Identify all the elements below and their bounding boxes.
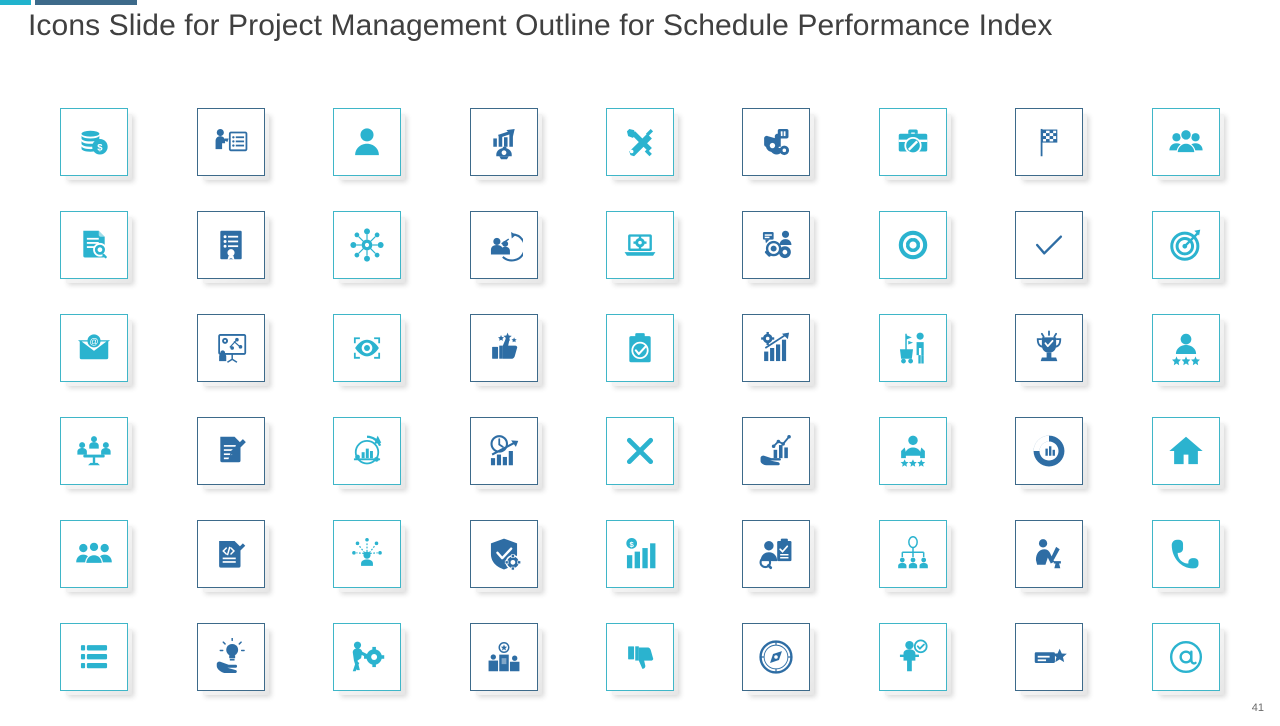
cross-close-x-icon bbox=[621, 432, 659, 470]
banner-ribbon-star-icon-tile[interactable] bbox=[1015, 623, 1083, 691]
icon-grid: $@$ bbox=[26, 108, 1254, 726]
dollar-bar-chart-icon-tile[interactable]: $ bbox=[606, 520, 674, 588]
icon-cell[interactable] bbox=[606, 623, 674, 691]
trophy-award-check-icon-tile[interactable] bbox=[1015, 314, 1083, 382]
person-pushing-gear-icon bbox=[348, 638, 386, 676]
icon-cell[interactable] bbox=[606, 211, 674, 279]
icon-cell[interactable] bbox=[333, 417, 401, 485]
icon-cell[interactable] bbox=[1152, 211, 1220, 279]
presenter-checklist-icon bbox=[212, 123, 250, 161]
clock-growth-chart-icon bbox=[485, 432, 523, 470]
person-stars-rating-icon-tile[interactable] bbox=[879, 417, 947, 485]
home-house-icon-tile[interactable] bbox=[1152, 417, 1220, 485]
team-meeting-table-icon-tile[interactable] bbox=[60, 417, 128, 485]
laptop-gear-settings-icon bbox=[621, 226, 659, 264]
network-nodes-gear-icon bbox=[348, 226, 386, 264]
icon-cell[interactable] bbox=[470, 623, 538, 691]
icon-cell[interactable] bbox=[60, 623, 128, 691]
people-group-three-icon bbox=[75, 535, 113, 573]
growth-chart-gear-icon-tile[interactable] bbox=[470, 108, 538, 176]
clock-growth-chart-icon-tile[interactable] bbox=[470, 417, 538, 485]
donut-pie-chart-icon-tile[interactable] bbox=[1015, 417, 1083, 485]
email-envelope-at-icon: @ bbox=[75, 329, 113, 367]
network-nodes-gear-icon-tile[interactable] bbox=[333, 211, 401, 279]
money-coins-dollar-icon: $ bbox=[75, 123, 113, 161]
shield-check-gear-icon bbox=[485, 535, 523, 573]
person-clipboard-search-icon-tile[interactable] bbox=[742, 520, 810, 588]
document-magnifier-review-icon bbox=[75, 226, 113, 264]
person-checkmark-approved-icon bbox=[894, 638, 932, 676]
target-dartboard-arrow-icon-tile[interactable] bbox=[1152, 211, 1220, 279]
dollar-bar-chart-icon: $ bbox=[621, 535, 659, 573]
network-hub-connection-icon bbox=[348, 535, 386, 573]
icon-cell[interactable] bbox=[742, 623, 810, 691]
compass-navigation-icon-tile[interactable] bbox=[742, 623, 810, 691]
icon-cell[interactable] bbox=[333, 211, 401, 279]
icon-cell[interactable] bbox=[742, 417, 810, 485]
shield-check-gear-icon-tile[interactable] bbox=[470, 520, 538, 588]
podium-winner-star-icon bbox=[485, 638, 523, 676]
accent-bar-blue bbox=[35, 0, 137, 5]
icon-cell[interactable] bbox=[1015, 520, 1083, 588]
thumbs-up-stars-rating-icon bbox=[485, 329, 523, 367]
single-user-avatar-icon bbox=[348, 123, 386, 161]
certificate-document-list-icon bbox=[212, 226, 250, 264]
icon-cell[interactable] bbox=[470, 417, 538, 485]
home-house-icon bbox=[1167, 432, 1205, 470]
person-cart-delivery-icon bbox=[894, 329, 932, 367]
tools-wrench-screwdriver-icon bbox=[621, 123, 659, 161]
bar-chart-gear-growth-icon bbox=[757, 329, 795, 367]
certificate-document-list-icon-tile[interactable] bbox=[197, 211, 265, 279]
compass-navigation-icon bbox=[757, 638, 795, 676]
icon-cell[interactable] bbox=[197, 623, 265, 691]
team-group-people-icon-tile[interactable] bbox=[1152, 108, 1220, 176]
money-coins-dollar-icon-tile[interactable]: $ bbox=[60, 108, 128, 176]
thumbs-down-dislike-icon-tile[interactable] bbox=[606, 623, 674, 691]
icon-cell[interactable] bbox=[1015, 623, 1083, 691]
phone-handset-call-icon-tile[interactable] bbox=[1152, 520, 1220, 588]
person-pushing-gear-icon-tile[interactable] bbox=[333, 623, 401, 691]
tools-wrench-screwdriver-icon-tile[interactable] bbox=[606, 108, 674, 176]
organization-hierarchy-chart-icon-tile[interactable] bbox=[879, 520, 947, 588]
hand-chart-growth-icon-tile[interactable] bbox=[742, 417, 810, 485]
user-search-analytics-icon bbox=[757, 226, 795, 264]
icon-cell[interactable] bbox=[1015, 417, 1083, 485]
icon-cell[interactable] bbox=[742, 211, 810, 279]
person-three-stars-rating-icon-tile[interactable] bbox=[1152, 314, 1220, 382]
cross-close-x-icon-tile[interactable] bbox=[606, 417, 674, 485]
icon-cell[interactable] bbox=[333, 623, 401, 691]
circular-gear-dial-icon-tile[interactable] bbox=[879, 211, 947, 279]
checkered-finish-flag-icon-tile[interactable] bbox=[1015, 108, 1083, 176]
code-document-pen-icon bbox=[212, 535, 250, 573]
accent-bar-teal bbox=[0, 0, 31, 5]
icon-cell[interactable] bbox=[879, 623, 947, 691]
podium-winner-star-icon-tile[interactable] bbox=[470, 623, 538, 691]
icon-cell[interactable] bbox=[60, 211, 128, 279]
icon-cell[interactable] bbox=[470, 211, 538, 279]
team-target-progress-icon-tile[interactable] bbox=[470, 211, 538, 279]
thumbs-up-stars-rating-icon-tile[interactable] bbox=[470, 314, 538, 382]
hand-gear-settings-icon bbox=[757, 123, 795, 161]
icon-cell[interactable] bbox=[606, 417, 674, 485]
person-stars-rating-icon bbox=[894, 432, 932, 470]
circular-gear-dial-icon bbox=[894, 226, 932, 264]
icon-cell[interactable] bbox=[879, 520, 947, 588]
svg-text:$: $ bbox=[630, 540, 635, 549]
page-title: Icons Slide for Project Management Outli… bbox=[28, 6, 1128, 46]
target-dartboard-arrow-icon bbox=[1167, 226, 1205, 264]
hand-lightbulb-idea-icon-tile[interactable] bbox=[197, 623, 265, 691]
checkmark-tick-icon-tile[interactable] bbox=[1015, 211, 1083, 279]
document-magnifier-review-icon-tile[interactable] bbox=[60, 211, 128, 279]
icon-cell[interactable] bbox=[470, 314, 538, 382]
icon-cell[interactable] bbox=[197, 314, 265, 382]
icon-cell[interactable]: @ bbox=[60, 314, 128, 382]
eye-vision-focus-icon bbox=[348, 329, 386, 367]
email-envelope-at-icon-tile[interactable]: @ bbox=[60, 314, 128, 382]
icon-cell[interactable] bbox=[470, 108, 538, 176]
icon-cell[interactable] bbox=[197, 108, 265, 176]
icon-cell[interactable]: $ bbox=[60, 108, 128, 176]
presenter-checklist-icon-tile[interactable] bbox=[197, 108, 265, 176]
briefcase-blocked-icon-tile[interactable] bbox=[879, 108, 947, 176]
code-document-pen-icon-tile[interactable] bbox=[197, 520, 265, 588]
icon-cell[interactable] bbox=[197, 211, 265, 279]
page-number: 41 bbox=[1252, 702, 1264, 714]
icon-cell[interactable]: $ bbox=[606, 520, 674, 588]
banner-ribbon-star-icon bbox=[1030, 638, 1068, 676]
eye-vision-focus-icon-tile[interactable] bbox=[333, 314, 401, 382]
at-sign-email-icon bbox=[1167, 638, 1205, 676]
hand-gear-settings-icon-tile[interactable] bbox=[742, 108, 810, 176]
icon-cell[interactable] bbox=[1152, 417, 1220, 485]
icon-cell[interactable] bbox=[879, 314, 947, 382]
icon-cell[interactable] bbox=[879, 108, 947, 176]
icon-cell[interactable] bbox=[1015, 108, 1083, 176]
icon-cell[interactable] bbox=[879, 211, 947, 279]
icon-cell[interactable] bbox=[60, 520, 128, 588]
presentation-board-strategy-icon-tile[interactable] bbox=[197, 314, 265, 382]
icon-cell[interactable] bbox=[879, 417, 947, 485]
team-meeting-table-icon bbox=[75, 432, 113, 470]
icon-cell[interactable] bbox=[60, 417, 128, 485]
hand-chart-growth-icon bbox=[757, 432, 795, 470]
accent-bars bbox=[0, 0, 137, 5]
icon-cell[interactable] bbox=[1015, 211, 1083, 279]
svg-text:@: @ bbox=[90, 336, 99, 346]
at-sign-email-icon-tile[interactable] bbox=[1152, 623, 1220, 691]
icon-cell[interactable] bbox=[470, 520, 538, 588]
donut-pie-chart-icon bbox=[1030, 432, 1068, 470]
laptop-gear-settings-icon-tile[interactable] bbox=[606, 211, 674, 279]
person-working-desk-icon-tile[interactable] bbox=[1015, 520, 1083, 588]
icon-cell[interactable] bbox=[333, 108, 401, 176]
icon-cell[interactable] bbox=[742, 314, 810, 382]
people-group-three-icon-tile[interactable] bbox=[60, 520, 128, 588]
document-pen-signature-icon bbox=[212, 432, 250, 470]
hand-lightbulb-idea-icon bbox=[212, 638, 250, 676]
team-target-progress-icon bbox=[485, 226, 523, 264]
icon-cell[interactable] bbox=[1152, 314, 1220, 382]
network-hub-connection-icon-tile[interactable] bbox=[333, 520, 401, 588]
circular-analytics-refresh-icon-tile[interactable] bbox=[333, 417, 401, 485]
icon-cell[interactable] bbox=[1152, 623, 1220, 691]
icon-cell[interactable] bbox=[1152, 520, 1220, 588]
bar-chart-gear-growth-icon-tile[interactable] bbox=[742, 314, 810, 382]
organization-hierarchy-chart-icon bbox=[894, 535, 932, 573]
icon-cell[interactable] bbox=[742, 108, 810, 176]
briefcase-blocked-icon bbox=[894, 123, 932, 161]
team-group-people-icon bbox=[1167, 123, 1205, 161]
icon-cell[interactable] bbox=[606, 314, 674, 382]
person-working-desk-icon bbox=[1030, 535, 1068, 573]
thumbs-down-dislike-icon bbox=[621, 638, 659, 676]
trophy-award-check-icon bbox=[1030, 329, 1068, 367]
icon-cell[interactable] bbox=[606, 108, 674, 176]
person-clipboard-search-icon bbox=[757, 535, 795, 573]
checkered-finish-flag-icon bbox=[1030, 123, 1068, 161]
icon-cell[interactable] bbox=[197, 520, 265, 588]
icon-cell[interactable] bbox=[1015, 314, 1083, 382]
icon-cell[interactable] bbox=[1152, 108, 1220, 176]
circular-analytics-refresh-icon bbox=[348, 432, 386, 470]
presentation-board-strategy-icon bbox=[212, 329, 250, 367]
person-three-stars-rating-icon bbox=[1167, 329, 1205, 367]
clipboard-check-approved-icon bbox=[621, 329, 659, 367]
task-list-lines-icon-tile[interactable] bbox=[60, 623, 128, 691]
icon-cell[interactable] bbox=[742, 520, 810, 588]
icon-cell[interactable] bbox=[333, 314, 401, 382]
growth-chart-gear-icon bbox=[485, 123, 523, 161]
svg-text:$: $ bbox=[98, 143, 104, 154]
icon-cell[interactable] bbox=[333, 520, 401, 588]
clipboard-check-approved-icon-tile[interactable] bbox=[606, 314, 674, 382]
phone-handset-call-icon bbox=[1167, 535, 1205, 573]
person-cart-delivery-icon-tile[interactable] bbox=[879, 314, 947, 382]
icon-cell[interactable] bbox=[197, 417, 265, 485]
task-list-lines-icon bbox=[75, 638, 113, 676]
single-user-avatar-icon-tile[interactable] bbox=[333, 108, 401, 176]
checkmark-tick-icon bbox=[1030, 226, 1068, 264]
document-pen-signature-icon-tile[interactable] bbox=[197, 417, 265, 485]
person-checkmark-approved-icon-tile[interactable] bbox=[879, 623, 947, 691]
user-search-analytics-icon-tile[interactable] bbox=[742, 211, 810, 279]
